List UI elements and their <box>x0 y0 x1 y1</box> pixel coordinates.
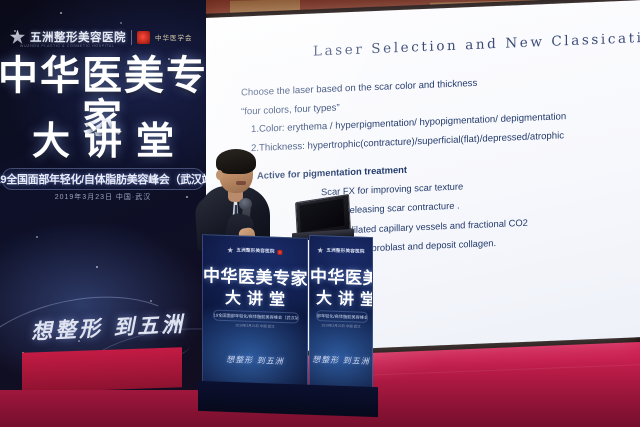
podium-base <box>198 381 378 417</box>
hospital-logo-icon <box>10 30 25 45</box>
podium-subtitle: 2019全国面部年轻化/自体脂肪美容峰会（武汉站） <box>213 312 298 321</box>
podium-subtitle: 2019全国面部年轻化/自体脂肪美容峰会（武汉站） <box>316 312 368 321</box>
banner-logo-subtext: WUZHOU PLASTIC & COSMETIC HOSPITAL <box>20 44 114 48</box>
banner-seal-text: 中华医学会 <box>155 32 193 42</box>
banner-red-base <box>22 347 182 390</box>
banner-title-line2: 大讲堂 <box>0 110 206 165</box>
banner-subtitle: 2019全国面部年轻化/自体脂肪美容峰会（武汉站） <box>0 171 206 187</box>
banner-date: 2019年3月23日 中国·武汉 <box>0 192 206 202</box>
podium-panel-front: 五洲整形美容医院 中华医美专家 大讲堂 2019全国面部年轻化/自体脂肪美容峰会… <box>202 234 308 390</box>
speaker-hair <box>216 149 256 174</box>
podium-panel-side: 五洲整形美容医院 中华医美专家 大讲堂 2019全国面部年轻化/自体脂肪美容峰会… <box>309 235 373 389</box>
podium-subtitle-strip: 2019全国面部年轻化/自体脂肪美容峰会（武汉站） <box>316 310 368 323</box>
speaker-ear <box>216 170 223 180</box>
podium-logo-text: 五洲整形美容医院 <box>326 247 364 254</box>
hospital-logo-icon <box>317 247 323 253</box>
podium-logo: 五洲整形美容医院 <box>227 247 282 255</box>
banner-subtitle-strip: 2019全国面部年轻化/自体脂肪美容峰会（武汉站） <box>2 168 204 190</box>
logo-divider <box>131 30 132 45</box>
hospital-logo-icon <box>227 247 233 253</box>
podium-title-line2: 大讲堂 <box>310 284 372 310</box>
podium-date: 2019年3月23日 中国·武汉 <box>310 322 372 329</box>
podium-logo: 五洲整形美容医院 <box>317 247 364 255</box>
seal-icon <box>278 249 283 254</box>
slide-title: Laser Selection and New Classication of … <box>313 30 636 59</box>
podium-slogan: 想整形 到五洲 <box>310 354 372 367</box>
conference-photo: Laser Selection and New Classication of … <box>0 0 640 427</box>
podium-slogan: 想整形 到五洲 <box>203 353 307 368</box>
podium-title-line2: 大讲堂 <box>203 283 307 311</box>
speaker-mouth <box>236 181 246 185</box>
podium: 五洲整形美容医院 中华医美专家 大讲堂 2019全国面部年轻化/自体脂肪美容峰会… <box>196 236 382 411</box>
banner-logo-text: 五洲整形美容医院 <box>30 29 126 45</box>
seal-icon <box>137 31 150 44</box>
podium-logo-text: 五洲整形美容医院 <box>236 247 274 254</box>
event-banner: 五洲整形美容医院 中华医学会 WUZHOU PLASTIC & COSMETIC… <box>0 0 206 390</box>
